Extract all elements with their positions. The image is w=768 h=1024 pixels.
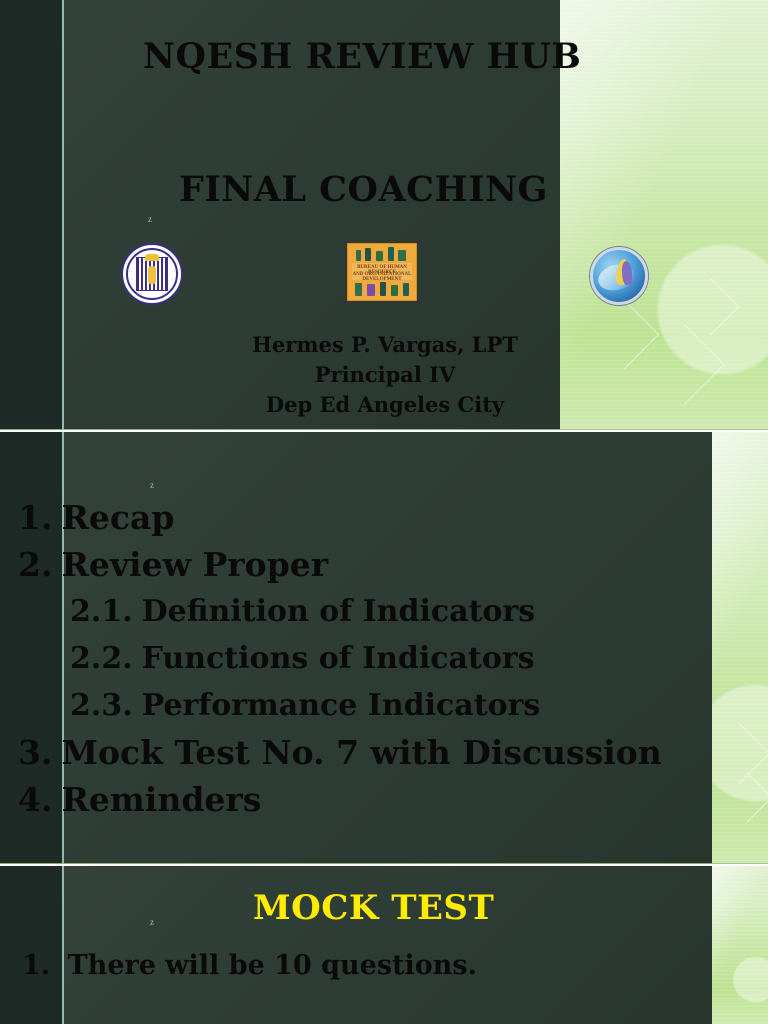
outline-item-number: 1. (18, 494, 52, 541)
slide-1: NQESH REVIEW HUB FINAL COACHING z BUREAU… (0, 0, 768, 430)
outline-item-number: 2.3. (70, 682, 133, 729)
outline-item: 2.2. Functions of Indicators (18, 635, 758, 682)
outline-item-number: 2.2. (70, 635, 133, 682)
bhrod-icon-shape (355, 283, 362, 296)
outline-item-text: Definition of Indicators (133, 588, 536, 635)
mock-test-item: 1. There will be 10 questions. (22, 950, 477, 981)
bhrod-logo-graphic: BUREAU OF HUMAN RESOURCE AND ORGANIZATIO… (347, 243, 417, 301)
bhrod-icon-shape (391, 285, 398, 296)
slides-page: NQESH REVIEW HUB FINAL COACHING z BUREAU… (0, 0, 768, 1024)
slide-2-outline: 1. Recap 2. Review Proper 2.1. Definitio… (18, 494, 758, 823)
slide-3: z MOCK TEST 1. There will be 10 question… (0, 866, 768, 1024)
outline-item-text: Recap (52, 494, 174, 541)
angeles-city-division-logo (590, 247, 648, 305)
outline-item: 1. Recap (18, 494, 758, 541)
outline-item-number: 2. (18, 541, 52, 588)
slide-1-left-strip (0, 0, 62, 430)
angeles-city-seal-graphic (590, 247, 648, 305)
slide-1-byline: Hermes P. Vargas, LPT Principal IV Dep E… (160, 330, 610, 420)
bhrod-icon-shape (376, 251, 383, 261)
slide-2-bottom-rule (0, 863, 768, 864)
chevron-decoration (682, 278, 740, 336)
angeles-city-seal-figure-violet (621, 261, 633, 286)
slide-3-title: MOCK TEST (253, 888, 494, 928)
slide-3-z-marker: z (150, 917, 155, 927)
bhrod-icon-shape (367, 284, 375, 296)
chevron-decoration (644, 324, 725, 405)
outline-item: 2. Review Proper (18, 541, 758, 588)
outline-item: 4. Reminders (18, 776, 758, 823)
bhrod-text-line2: AND ORGANIZATIONAL DEVELOPMENT (348, 272, 416, 282)
slide-1-z-marker: z (148, 214, 153, 224)
deped-seal-logo (121, 243, 183, 305)
mock-test-item-number: 1. (22, 950, 50, 981)
slide-1-subtitle: FINAL COACHING (179, 169, 548, 210)
slide-1-bottom-rule (0, 429, 768, 430)
deped-seal-crest (145, 254, 159, 261)
bhrod-icon-shape (380, 282, 386, 296)
slide-3-green-panel (712, 866, 768, 1024)
mock-test-item-text: There will be 10 questions. (60, 950, 477, 981)
outline-item-text: Reminders (52, 776, 261, 823)
slide-1-title: NQESH REVIEW HUB (143, 36, 581, 77)
outline-item-number: 4. (18, 776, 52, 823)
outline-item-number: 3. (18, 729, 52, 776)
outline-item: 2.3. Performance Indicators (18, 682, 758, 729)
deped-seal-graphic (121, 243, 183, 305)
outline-item: 3. Mock Test No. 7 with Discussion (18, 729, 758, 776)
byline-presenter: Hermes P. Vargas, LPT (160, 330, 610, 360)
bhrod-icon-shape (356, 250, 361, 261)
bhrod-icon-shape (365, 248, 371, 261)
deped-seal-figure (148, 266, 156, 284)
outline-item-text: Performance Indicators (133, 682, 541, 729)
outline-item-text: Mock Test No. 7 with Discussion (52, 729, 661, 776)
outline-item-text: Functions of Indicators (133, 635, 535, 682)
slide-1-vertical-rule (62, 0, 64, 430)
byline-position: Principal IV (160, 360, 610, 390)
outline-item-number: 2.1. (70, 588, 133, 635)
slide-2: z 1. Recap 2. Review Proper 2.1. Definit… (0, 432, 768, 864)
slide-2-z-marker: z (150, 480, 155, 490)
slide-3-left-strip (0, 866, 62, 1024)
bhrod-icon-shape (388, 247, 394, 261)
byline-office: Dep Ed Angeles City (160, 390, 610, 420)
bhrod-icon-shape (403, 283, 409, 296)
outline-item: 2.1. Definition of Indicators (18, 588, 758, 635)
bhrod-logo: BUREAU OF HUMAN RESOURCE AND ORGANIZATIO… (347, 243, 417, 301)
outline-item-text: Review Proper (52, 541, 328, 588)
bhrod-icon-shape (398, 250, 406, 261)
slide-3-vertical-rule (62, 866, 64, 1024)
